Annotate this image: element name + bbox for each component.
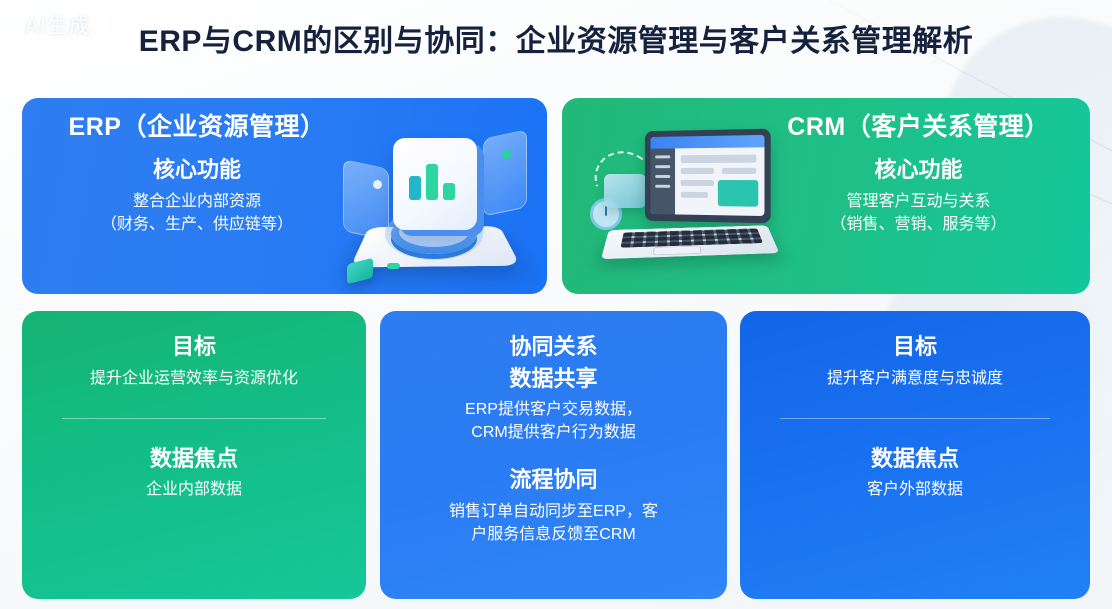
crm-screen-row-5-icon bbox=[681, 192, 708, 198]
synergy-section1-body-line2: CRM提供客户行为数据 bbox=[471, 421, 635, 444]
synergy-section2-body-line1: 销售订单自动同步至ERP，客 bbox=[449, 500, 658, 523]
crm-laptop-screen-icon bbox=[651, 135, 765, 216]
synergy-main-title: 协同关系 bbox=[509, 333, 597, 361]
card-erp-desc-line2: （财务、生产、供应链等） bbox=[101, 213, 293, 236]
card-erp-subheading: 核心功能 bbox=[153, 152, 241, 184]
erp-panel-dot-green-icon bbox=[502, 150, 511, 159]
card-erp-text-block: ERP（企业资源管理） 核心功能 整合企业内部资源 （财务、生产、供应链等） bbox=[32, 112, 362, 236]
synergy-section2-title: 流程协同 bbox=[509, 466, 597, 494]
card-erp-goal: 目标 提升企业运营效率与资源优化 数据焦点 企业内部数据 bbox=[22, 311, 366, 599]
erp-goal-section2-title: 数据焦点 bbox=[150, 445, 238, 473]
erp-goal-section1-body: 提升企业运营效率与资源优化 bbox=[90, 367, 298, 390]
erp-chart-card-icon bbox=[393, 138, 477, 230]
crm-laptop-illustration bbox=[588, 126, 778, 281]
card-erp-goal-inner: 目标 提升企业运营效率与资源优化 数据焦点 企业内部数据 bbox=[22, 311, 366, 599]
erp-status-tick-icon bbox=[387, 263, 400, 269]
crm-trackpad-icon bbox=[653, 246, 702, 256]
crm-laptop-lid-icon bbox=[645, 129, 771, 224]
crm-screen-row-1-icon bbox=[681, 155, 756, 164]
erp-chart-bar-2-icon bbox=[426, 164, 438, 200]
crm-goal-section1-title: 目标 bbox=[893, 333, 937, 361]
crm-screen-topbar-icon bbox=[651, 135, 765, 149]
card-crm-desc-line1: 管理客户互动与关系 bbox=[846, 190, 990, 213]
card-crm-desc-line2: （销售、营销、服务等） bbox=[830, 213, 1006, 236]
crm-keyboard-icon bbox=[621, 228, 763, 247]
crm-screen-sidebar-icon bbox=[651, 148, 676, 214]
card-synergy: 协同关系 数据共享 ERP提供客户交易数据， CRM提供客户行为数据 流程协同 … bbox=[380, 311, 727, 599]
erp-goal-section2-body: 企业内部数据 bbox=[146, 478, 242, 501]
crm-goal-section2-title: 数据焦点 bbox=[871, 445, 959, 473]
page-title: ERP与CRM的区别与协同：企业资源管理与客户关系管理解析 bbox=[0, 16, 1112, 60]
card-erp-desc-line1: 整合企业内部资源 bbox=[133, 190, 261, 213]
synergy-section1-title: 数据共享 bbox=[509, 365, 597, 393]
card-crm: CRM（客户关系管理） 核心功能 管理客户互动与关系 （销售、营销、服务等） bbox=[562, 98, 1090, 294]
card-crm-goal-inner: 目标 提升客户满意度与忠诚度 数据焦点 客户外部数据 bbox=[740, 311, 1090, 599]
crm-screen-tile-icon bbox=[718, 180, 758, 207]
synergy-section1-body-line1: ERP提供客户交易数据， bbox=[465, 398, 642, 421]
card-crm-text-block: CRM（客户关系管理） 核心功能 管理客户互动与关系 （销售、营销、服务等） bbox=[754, 112, 1084, 236]
erp-panel-dot-light-icon bbox=[373, 180, 382, 189]
ai-generated-badge: AI生成 bbox=[10, 6, 106, 44]
crm-screen-row-3-icon bbox=[722, 168, 756, 174]
erp-floating-panel-right-icon bbox=[483, 129, 527, 216]
card-erp-heading: ERP（企业资源管理） bbox=[69, 112, 326, 142]
card-synergy-inner: 协同关系 数据共享 ERP提供客户交易数据， CRM提供客户行为数据 流程协同 … bbox=[380, 311, 727, 599]
erp-cube-icon bbox=[347, 258, 373, 284]
synergy-section2-body-line2: 户服务信息反馈至CRM bbox=[471, 523, 635, 546]
crm-goal-section1-body: 提升客户满意度与忠诚度 bbox=[827, 367, 1003, 390]
crm-goal-section2-body: 客户外部数据 bbox=[867, 478, 963, 501]
card-erp: ERP（企业资源管理） 核心功能 整合企业内部资源 （财务、生产、供应链等） bbox=[22, 98, 547, 294]
card-crm-goal: 目标 提升客户满意度与忠诚度 数据焦点 客户外部数据 bbox=[740, 311, 1090, 599]
crm-floating-card-icon bbox=[604, 174, 646, 208]
erp-chart-bar-1-icon bbox=[409, 176, 421, 200]
erp-server-chart-illustration bbox=[339, 122, 529, 287]
card-crm-heading: CRM（客户关系管理） bbox=[787, 112, 1049, 142]
erp-goal-divider bbox=[62, 418, 327, 419]
card-crm-subheading: 核心功能 bbox=[874, 152, 962, 184]
erp-goal-section1-title: 目标 bbox=[172, 333, 216, 361]
crm-goal-divider bbox=[780, 418, 1050, 419]
crm-laptop-base-icon bbox=[601, 225, 780, 259]
crm-screen-row-4-icon bbox=[681, 180, 714, 186]
erp-chart-bar-3-icon bbox=[443, 183, 455, 200]
crm-screen-row-2-icon bbox=[681, 168, 714, 174]
